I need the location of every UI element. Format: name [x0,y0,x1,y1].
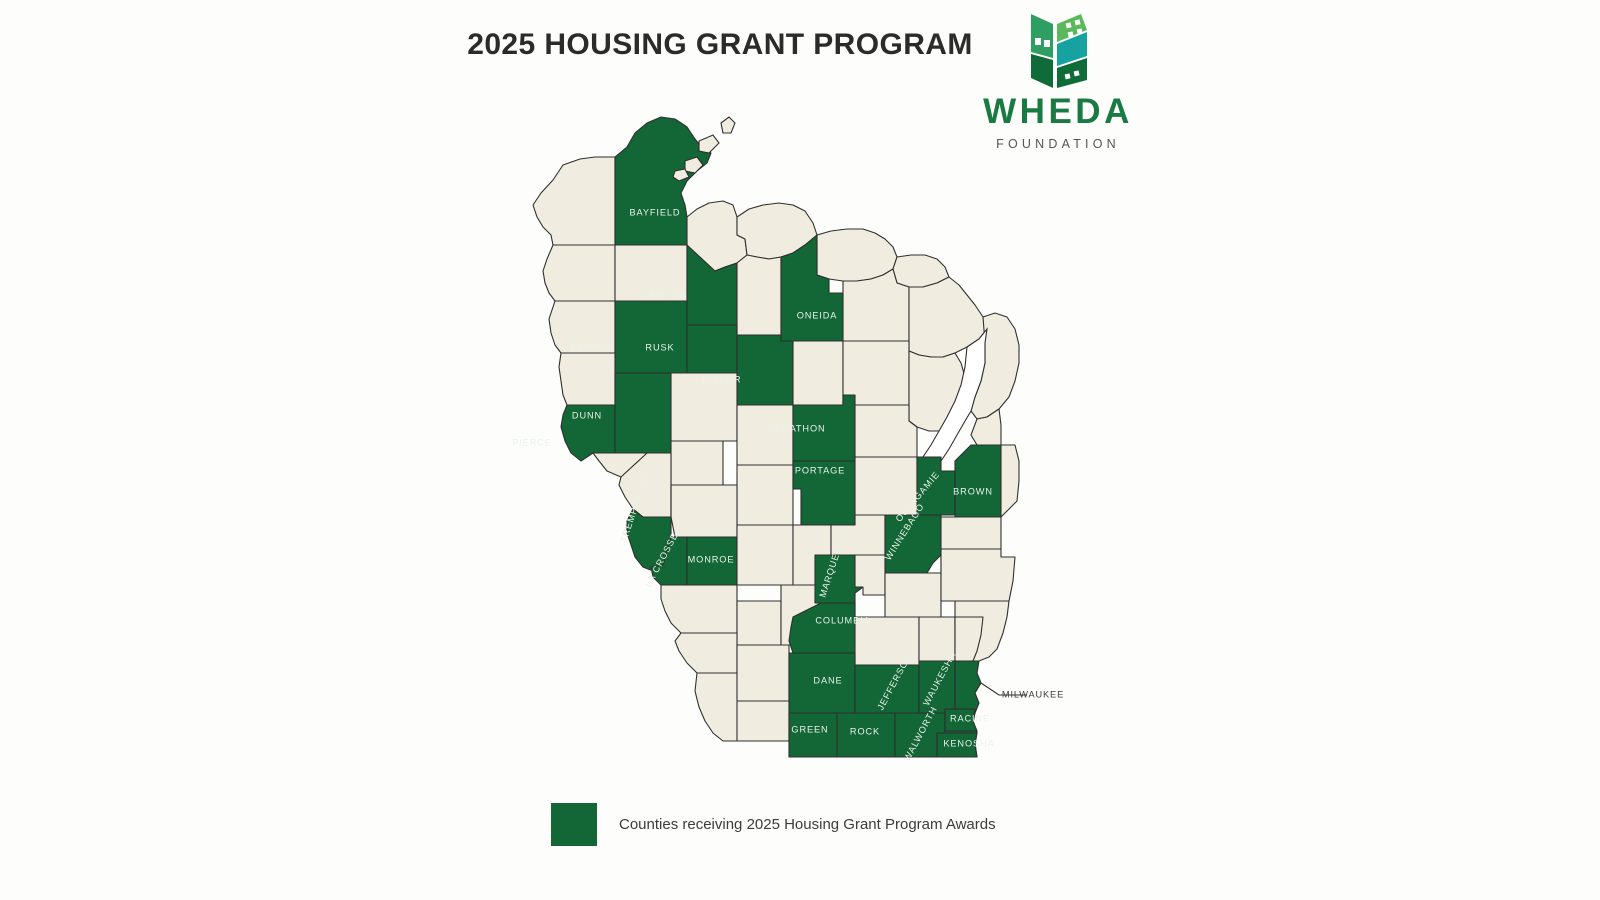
county-label-barron: BARRON [571,342,616,352]
legend-swatch-awarded [551,803,597,846]
county-clark[interactable] [737,405,793,465]
county-green[interactable] [789,713,837,757]
county-brown[interactable] [955,445,1001,517]
county-crawford[interactable] [675,633,737,673]
county-calumet[interactable] [941,517,1001,549]
wheda-building-logo-icon [1013,8,1103,92]
county-manitowoc[interactable] [1001,445,1019,517]
county-label-milwaukee: MILWAUKEE [1002,689,1064,699]
county-eau-claire[interactable] [671,441,723,485]
county-label-rock: ROCK [850,726,880,736]
county-douglas[interactable] [533,157,615,245]
county-rusk[interactable] [687,325,737,373]
county-jackson[interactable] [671,485,737,537]
county-dunn[interactable] [615,373,671,453]
county-st-croix[interactable] [559,353,615,405]
county-vernon[interactable] [661,585,737,633]
county-label-taylor: TAYLOR [701,374,742,384]
county-sheboygan[interactable] [941,549,1015,601]
county-label-racine: RACINE [950,713,990,723]
county-richland[interactable] [737,601,781,645]
county-shawano[interactable] [855,405,917,457]
county-lafayette[interactable] [737,701,789,741]
county-label-monroe: MONROE [688,554,735,564]
county-burnett[interactable] [543,245,615,301]
county-iowa[interactable] [737,645,789,701]
apostle-island-1 [721,117,735,133]
map-legend: Counties receiving 2025 Housing Grant Pr… [551,803,996,846]
county-label-pierce: PIERCE [512,437,552,447]
county-label-columbia: COLUMBIA [815,615,870,625]
county-label-green: GREEN [791,724,828,734]
wisconsin-map-svg: BAYFIELDSAWYERONEIDABARRONRUSKTAYLORDUNN… [455,105,1095,785]
wisconsin-county-map: BAYFIELDSAWYERONEIDABARRONRUSKTAYLORDUNN… [455,105,1095,785]
county-label-portage: PORTAGE [795,465,845,475]
county-label-brown: BROWN [953,486,993,496]
county-price[interactable] [737,255,781,335]
county-barron[interactable] [615,301,687,373]
county-label-dane: DANE [813,675,842,685]
county-label-oneida: ONEIDA [797,310,838,320]
map-infographic-page: 2025 HOUSING GRANT PROGRAM WHEDA [0,0,1600,900]
county-label-marathon: MARATHON [766,423,825,433]
county-juneau[interactable] [737,525,793,585]
county-wood[interactable] [737,461,793,525]
page-title: 2025 HOUSING GRANT PROGRAM [440,28,1000,62]
county-label-dunn: DUNN [572,410,602,420]
apostle-island-2 [699,135,719,153]
county-label-sawyer: SAWYER [643,289,688,299]
county-milwaukee[interactable] [955,661,981,713]
legend-label-awarded: Counties receiving 2025 Housing Grant Pr… [619,816,996,833]
county-label-rusk: RUSK [645,342,674,352]
county-label-kenosha: KENOSHA [943,738,994,748]
county-taylor[interactable] [737,335,793,405]
county-label-bayfield: BAYFIELD [630,207,681,217]
